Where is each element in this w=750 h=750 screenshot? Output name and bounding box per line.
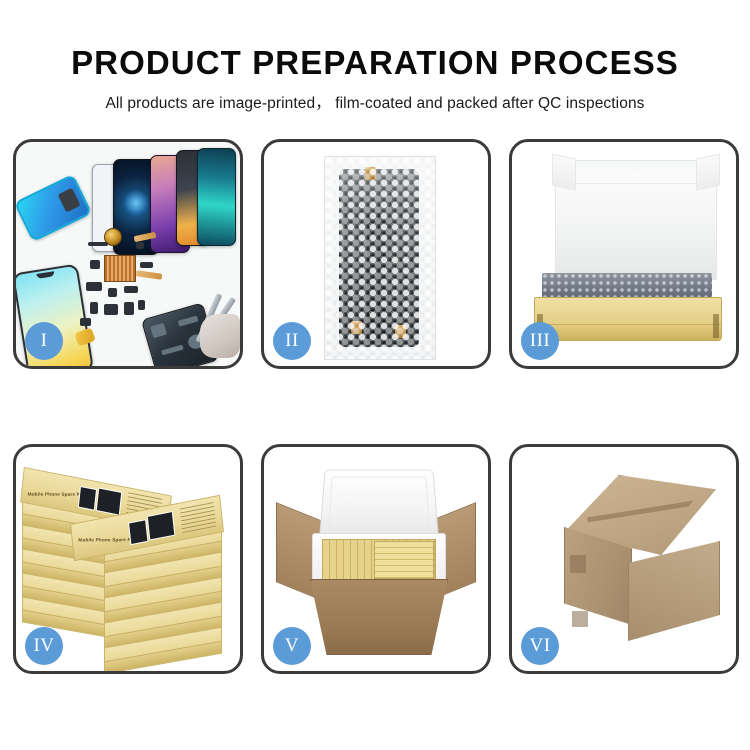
step-badge-6: VI <box>521 627 559 665</box>
step-badge-2: II <box>273 322 311 360</box>
spare-part-connector <box>140 262 153 268</box>
process-step-panel-3[interactable]: III <box>509 139 739 369</box>
copper-shield-mesh-part <box>104 255 136 282</box>
carton-tape-lower <box>572 611 588 627</box>
spare-part-button <box>108 288 117 297</box>
process-step-panel-6[interactable]: VI <box>509 444 739 674</box>
sealed-carton <box>538 475 718 645</box>
technician-hand <box>200 314 240 358</box>
styrofoam-lid <box>319 470 439 538</box>
spare-part-clip <box>80 318 91 326</box>
spare-part-frame <box>86 282 102 291</box>
page-subtitle: All products are image-printed， film-coa… <box>0 82 750 113</box>
spare-part-strip <box>88 242 108 246</box>
kraft-tray <box>534 297 722 341</box>
step-badge-1: I <box>25 322 63 360</box>
packed-yellow-boxes-row-2 <box>374 541 434 579</box>
spare-part-sensor <box>124 302 134 315</box>
carton-right-face <box>628 541 720 641</box>
bubble-wrap-sleeve <box>324 156 436 360</box>
spare-part-speaker <box>124 286 138 293</box>
spare-part-screw-plate <box>138 300 145 310</box>
header: PRODUCT PREPARATION PROCESS All products… <box>0 0 750 113</box>
spare-part-bracket <box>90 260 100 269</box>
process-step-panel-4[interactable]: Mobile Phone Spare Parts Mobile Phone Sp… <box>13 444 243 674</box>
spare-part-chip <box>136 242 144 249</box>
step-badge-5: V <box>273 627 311 665</box>
step-badge-3: III <box>521 322 559 360</box>
step-badge-4: IV <box>25 627 63 665</box>
spare-part-sim-tray <box>90 302 98 314</box>
process-step-panel-2[interactable]: II <box>261 139 491 369</box>
white-foam-lid <box>555 160 717 280</box>
process-step-panel-1[interactable]: I <box>13 139 243 369</box>
carton-body <box>310 579 448 655</box>
page-title: PRODUCT PREPARATION PROCESS <box>0 0 750 82</box>
phone-screen-blue <box>16 174 92 242</box>
phone-screen-teal <box>197 148 236 246</box>
process-step-panel-5[interactable]: V <box>261 444 491 674</box>
spare-part-vibrator <box>104 304 118 315</box>
flex-cable-part-2 <box>136 270 163 280</box>
bubble-wrap-texture-overlay <box>325 157 435 359</box>
carton-tape-upper <box>570 555 586 573</box>
process-step-grid: I II <box>13 139 739 684</box>
